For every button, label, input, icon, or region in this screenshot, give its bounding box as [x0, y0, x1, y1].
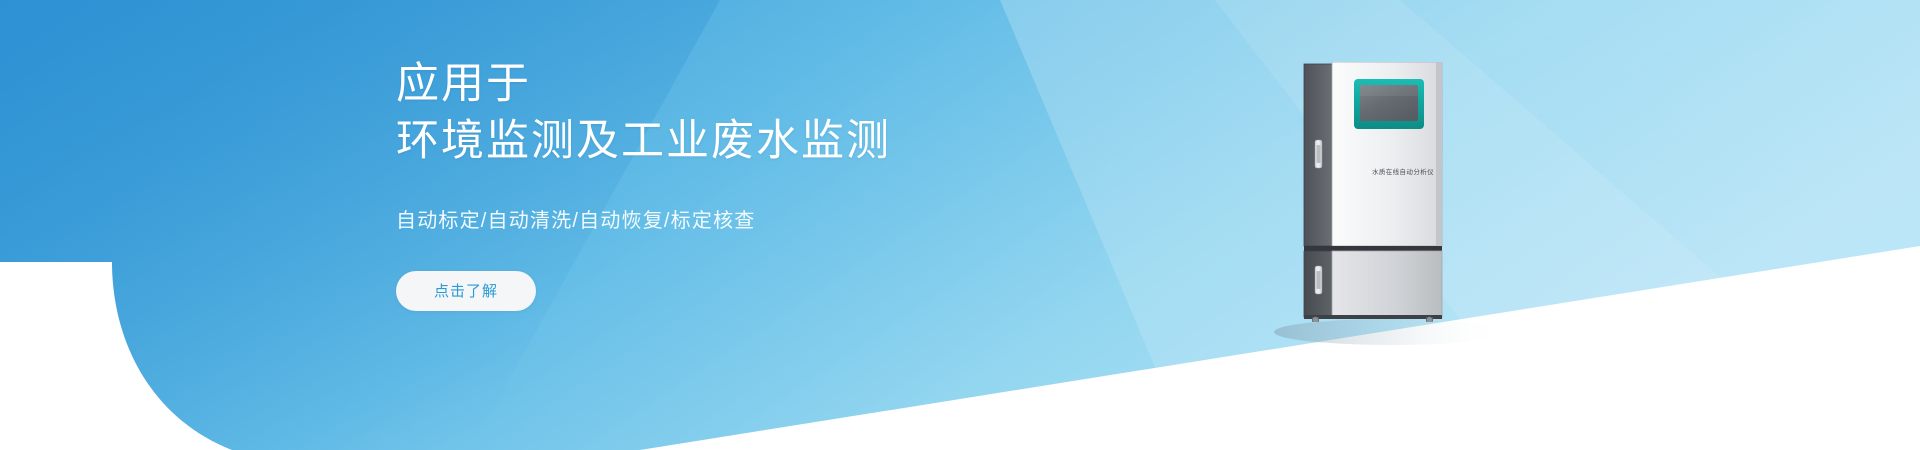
cabinet-right-edge — [1436, 62, 1442, 246]
device-floor-shadow — [1274, 319, 1510, 345]
lower-cabinet-front — [1332, 251, 1442, 317]
screen-glare — [1360, 85, 1418, 96]
analyzer-device: 水质在线自动分析仪 — [1300, 62, 1480, 322]
banner-heading: 应用于 环境监测及工业废水监测 — [396, 56, 1156, 170]
banner-subtitle: 自动标定/自动清洗/自动恢复/标定核查 — [396, 204, 1156, 233]
learn-more-button[interactable]: 点击了解 — [396, 271, 536, 311]
cta-container: 点击了解 — [396, 271, 1156, 311]
cabinet-divider — [1304, 246, 1442, 251]
analyzer-illustration — [1300, 62, 1480, 322]
cabinet-base-rail — [1304, 315, 1442, 319]
heading-line-1: 应用于 — [396, 60, 531, 108]
heading-line-2: 环境监测及工业废水监测 — [396, 113, 1156, 170]
banner-content: 应用于 环境监测及工业废水监测 自动标定/自动清洗/自动恢复/标定核查 点击了解 — [396, 56, 1156, 311]
hero-banner: 应用于 环境监测及工业废水监测 自动标定/自动清洗/自动恢复/标定核查 点击了解 — [0, 0, 1920, 450]
